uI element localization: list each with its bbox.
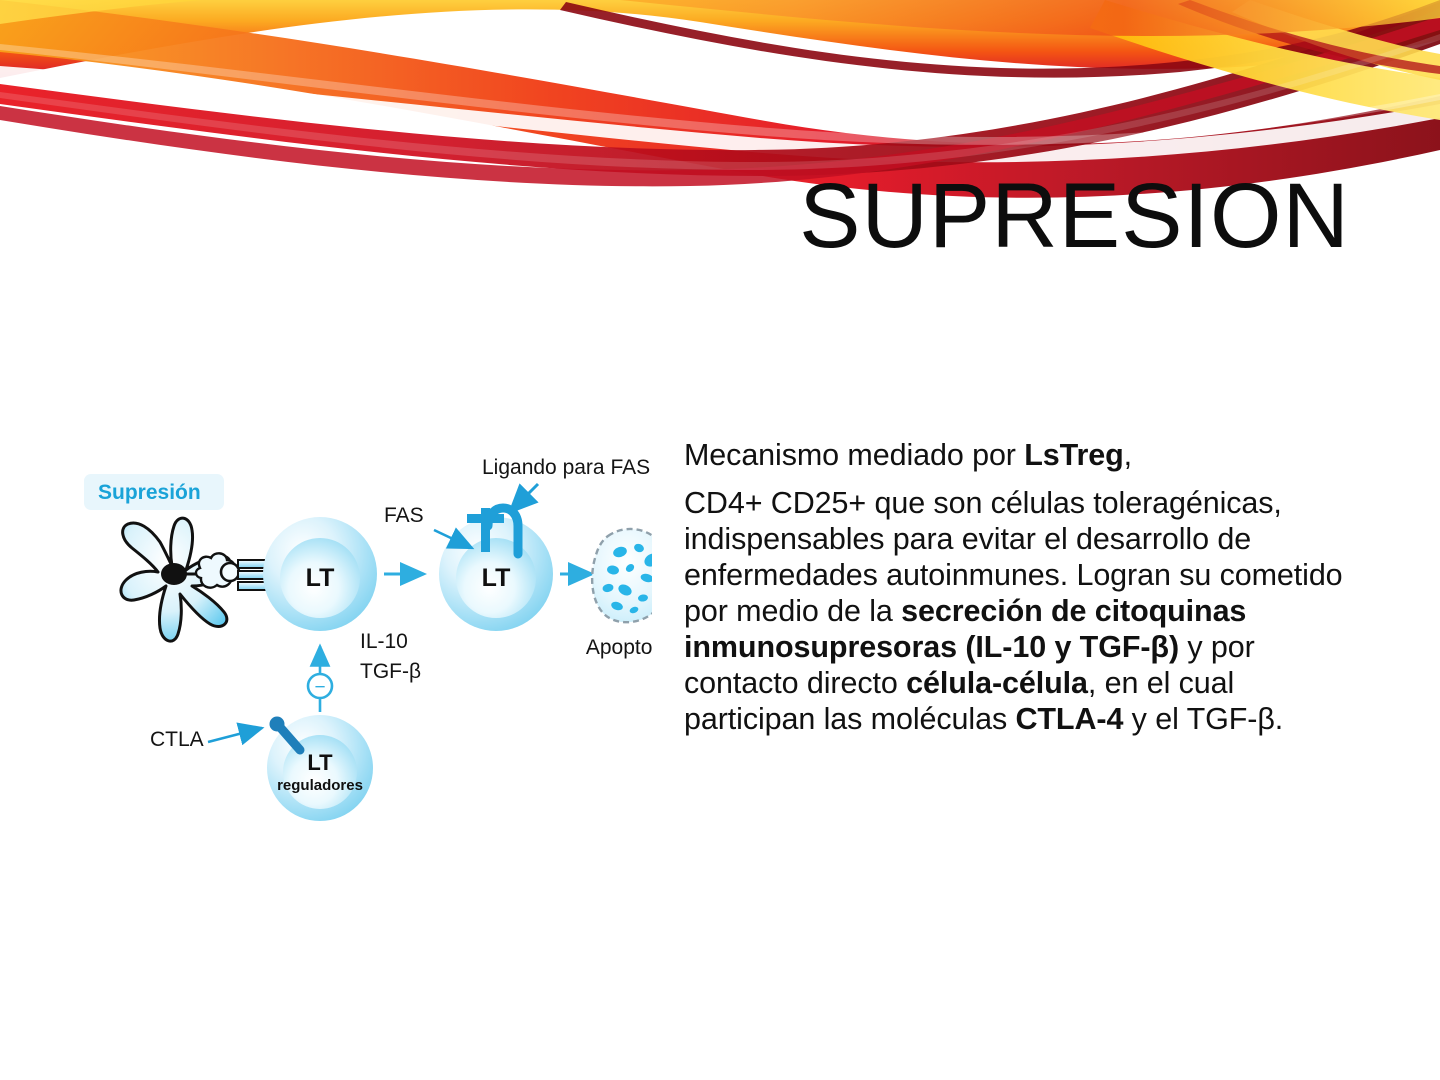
label-ctla: CTLA <box>150 728 262 751</box>
body-lead-line: Mecanismo mediado por LsTreg, <box>684 437 1352 473</box>
body-seg-6: y el TGF-β. <box>1123 702 1283 736</box>
body-paragraph: CD4+ CD25+ que son células toleragénicas… <box>684 485 1352 737</box>
treg-cell-label: LT <box>307 750 333 775</box>
ctla-arrow <box>208 728 262 742</box>
body-seg-5: CTLA-4 <box>1015 702 1123 736</box>
page-title: SUPRESION <box>60 168 1350 265</box>
cytokine-tgfb-label: TGF-β <box>360 660 421 683</box>
ctla-label: CTLA <box>150 728 204 751</box>
body-text-block: Mecanismo mediado por LsTreg, CD4+ CD25+… <box>684 437 1352 737</box>
inhibition-minus-symbol: − <box>314 677 325 698</box>
cytokine-il10-label: IL-10 <box>360 630 408 653</box>
ligando-fas-arrow <box>510 484 538 512</box>
inhibition-connector: − <box>308 646 332 712</box>
slide-canvas: SUPRESION Mecanismo mediado por LsTreg, … <box>0 0 1440 1080</box>
t-cell-2: LT <box>439 517 553 631</box>
body-seg-3: célula-célula <box>906 666 1088 700</box>
apoptosis-label: Apoptosis <box>586 636 652 659</box>
supresion-mechanism-diagram: Supresión <box>72 450 652 850</box>
lead-bold-lstreg: LsTreg <box>1024 438 1123 472</box>
t-cell-1: LT <box>263 517 377 631</box>
badge-label: Supresión <box>98 481 201 504</box>
treg-cell-sublabel: reguladores <box>277 777 363 794</box>
apoptotic-cell <box>592 529 652 622</box>
t-cell-2-label: LT <box>482 564 511 592</box>
lead-after: , <box>1124 438 1132 472</box>
fas-label: FAS <box>384 504 424 527</box>
t-cell-1-label: LT <box>306 564 335 592</box>
label-ligando-para-fas: Ligando para FAS <box>482 456 650 512</box>
lead-before: Mecanismo mediado por <box>684 438 1024 472</box>
badge-supresion: Supresión <box>84 474 224 510</box>
ligando-fas-label: Ligando para FAS <box>482 456 650 479</box>
label-fas: FAS <box>384 504 472 548</box>
